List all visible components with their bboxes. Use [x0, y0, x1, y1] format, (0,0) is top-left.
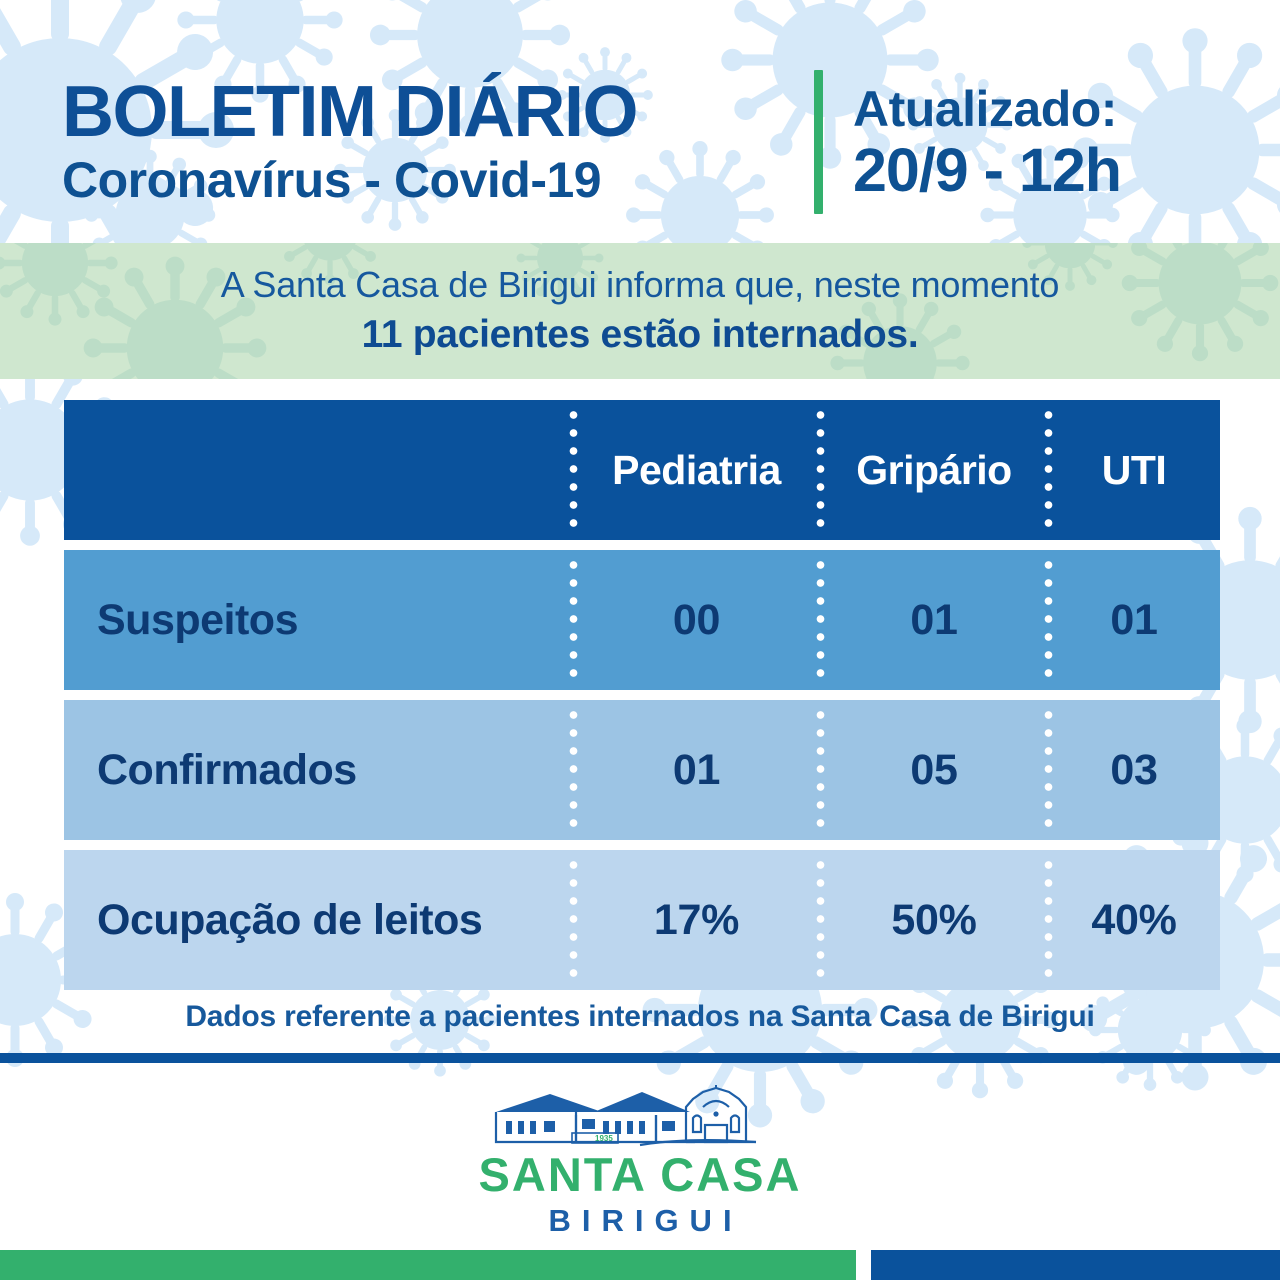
column-header-uti: UTI: [1048, 447, 1220, 494]
covid-stats-table: Pediatria Gripário UTI Suspeitos 00 01 0…: [64, 400, 1220, 990]
logo-founded-year: 1935: [595, 1134, 613, 1143]
column-divider-1: [569, 556, 578, 684]
bottom-bar-green: [0, 1250, 856, 1280]
cell-suspeitos-gripario: 01: [820, 596, 1048, 645]
page-subtitle: Coronavírus - Covid-19: [62, 152, 601, 208]
row-label-confirmados: Confirmados: [64, 746, 573, 795]
cell-ocupacao-gripario: 50%: [820, 896, 1048, 945]
header-inner: BOLETIM DIÁRIO Coronavírus - Covid-19 At…: [62, 62, 1242, 222]
column-divider-2: [816, 556, 825, 684]
row-label-suspeitos: Suspeitos: [64, 596, 573, 645]
cell-ocupacao-pediatria: 17%: [573, 896, 820, 945]
row-label-ocupacao: Ocupação de leitos: [64, 896, 573, 945]
page-title: BOLETIM DIÁRIO: [62, 76, 637, 149]
table-row: Suspeitos 00 01 01: [64, 550, 1220, 690]
column-divider-2: [816, 856, 825, 984]
logo-name: SANTA CASA: [479, 1151, 802, 1198]
column-divider-3: [1044, 556, 1053, 684]
header-divider: [814, 70, 823, 214]
cell-confirmados-pediatria: 01: [573, 746, 820, 795]
header: BOLETIM DIÁRIO Coronavírus - Covid-19 At…: [0, 0, 1280, 243]
column-divider-1: [569, 856, 578, 984]
column-divider-2: [816, 706, 825, 834]
cell-ocupacao-uti: 40%: [1048, 896, 1220, 945]
title-block: BOLETIM DIÁRIO Coronavírus - Covid-19: [62, 76, 810, 207]
column-divider-3: [1044, 706, 1053, 834]
table-row: Confirmados 01 05 03: [64, 700, 1220, 840]
update-value: 20/9 - 12h: [853, 138, 1121, 202]
column-divider-3: [1044, 406, 1053, 534]
column-divider-2: [816, 406, 825, 534]
logo-city: BIRIGUI: [537, 1205, 742, 1236]
logo: 1935 SANTA CASA BIRIGUI: [0, 1085, 1280, 1240]
info-banner: A Santa Casa de Birigui informa que, nes…: [0, 243, 1280, 379]
bottom-bar-blue: [871, 1250, 1280, 1280]
column-divider-1: [569, 406, 578, 534]
santa-casa-building-icon: 1935: [490, 1085, 790, 1147]
column-divider-3: [1044, 856, 1053, 984]
footnote: Dados referente a pacientes internados n…: [0, 1000, 1280, 1034]
cell-suspeitos-pediatria: 00: [573, 596, 820, 645]
banner-line-2: 11 pacientes estão internados.: [362, 311, 919, 360]
cell-confirmados-gripario: 05: [820, 746, 1048, 795]
table-row: Ocupação de leitos 17% 50% 40%: [64, 850, 1220, 990]
column-header-gripario: Gripário: [820, 447, 1048, 494]
section-divider-rule: [0, 1053, 1280, 1063]
column-header-pediatria: Pediatria: [573, 447, 820, 494]
update-label: Atualizado:: [853, 82, 1117, 137]
update-block: Atualizado: 20/9 - 12h: [853, 82, 1121, 202]
table-header-row: Pediatria Gripário UTI: [64, 400, 1220, 540]
cell-confirmados-uti: 03: [1048, 746, 1220, 795]
column-divider-1: [569, 706, 578, 834]
banner-line-1: A Santa Casa de Birigui informa que, nes…: [221, 262, 1059, 307]
cell-suspeitos-uti: 01: [1048, 596, 1220, 645]
